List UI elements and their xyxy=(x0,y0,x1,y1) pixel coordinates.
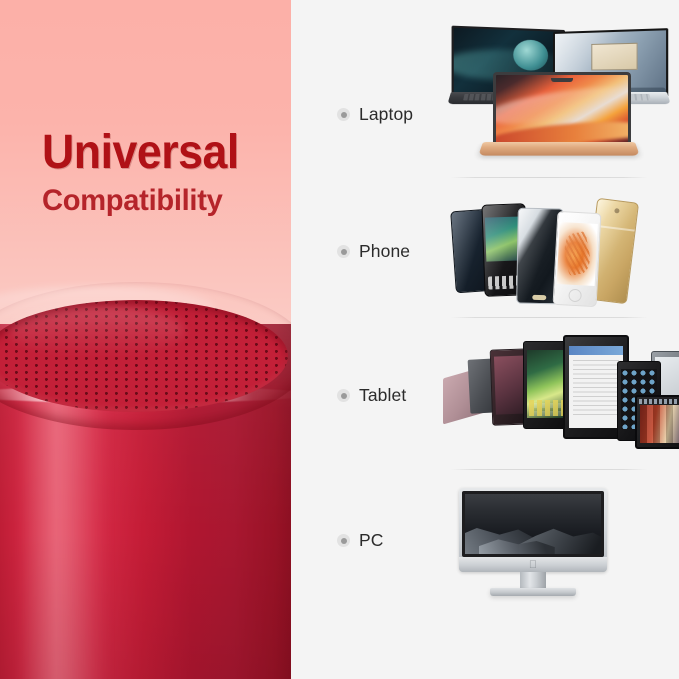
macbook-base xyxy=(478,142,640,156)
device-row-tablet: Tablet xyxy=(291,317,679,473)
device-label-text: Tablet xyxy=(359,385,406,406)
macbook-notch xyxy=(551,78,573,82)
phone-group-image xyxy=(443,192,663,314)
white-tablet-screen xyxy=(569,346,623,428)
product-marketing-image: Universal Compatibility ANEMY Laptop xyxy=(0,0,679,679)
headline-secondary: Compatibility xyxy=(42,185,275,217)
android-tablet-icons xyxy=(529,400,565,416)
headline-block: Universal Compatibility xyxy=(42,128,282,217)
device-label-pc: PC xyxy=(337,530,384,551)
laptop-group-image xyxy=(441,24,673,172)
imac-stand-foot xyxy=(490,588,576,596)
media-tablet-topbar xyxy=(639,399,679,404)
speaker-grille-mesh xyxy=(0,300,288,412)
white-iphone xyxy=(553,211,602,307)
pc-group-image:  xyxy=(441,484,641,614)
device-row-pc: PC  xyxy=(291,470,679,679)
imac-mojave-wallpaper xyxy=(465,494,601,554)
windows-tile xyxy=(591,43,638,70)
wide-media-tablet xyxy=(635,395,679,449)
speaker-grille-sheen xyxy=(8,306,184,356)
compatibility-list-panel: Laptop xyxy=(291,0,679,679)
device-label-laptop: Laptop xyxy=(337,104,413,125)
device-label-text: Laptop xyxy=(359,104,413,125)
bullet-icon xyxy=(337,389,350,402)
bullet-icon xyxy=(337,108,350,121)
device-label-tablet: Tablet xyxy=(337,385,406,406)
device-row-laptop: Laptop xyxy=(291,0,679,180)
tablet-group-image xyxy=(439,333,667,459)
device-row-phone: Phone xyxy=(291,178,679,318)
device-label-text: Phone xyxy=(359,241,410,262)
gold-macbook xyxy=(489,72,629,164)
bullet-icon xyxy=(337,534,350,547)
device-label-phone: Phone xyxy=(337,241,410,262)
headline-primary: Universal xyxy=(42,128,265,178)
device-label-text: PC xyxy=(359,530,384,551)
left-hero-panel: Universal Compatibility ANEMY xyxy=(0,0,291,679)
bluetooth-speaker-product: ANEMY xyxy=(0,282,291,679)
imac-display xyxy=(462,491,604,557)
media-tablet-screen xyxy=(640,405,679,443)
speaker-top-rim xyxy=(0,282,291,430)
bullet-icon xyxy=(337,245,350,258)
macbook-screen xyxy=(493,72,631,147)
apple-logo-icon:  xyxy=(529,560,537,571)
imac-desktop:  xyxy=(459,488,607,596)
